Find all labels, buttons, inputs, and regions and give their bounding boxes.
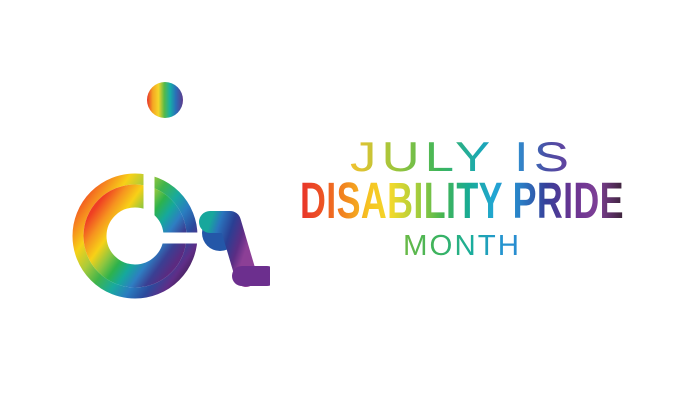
headline-line2: DISABILITY PRIDE <box>300 173 624 230</box>
wheelchair-icon <box>70 70 270 315</box>
head <box>147 82 183 118</box>
wheelchair-icon-svg <box>70 70 270 315</box>
headline-line3: MONTH <box>403 230 521 262</box>
headline-svg: JULY IS DISABILITY PRIDE MONTH <box>290 128 635 273</box>
poster-canvas: JULY IS DISABILITY PRIDE MONTH <box>0 0 700 400</box>
headline-block: JULY IS DISABILITY PRIDE MONTH <box>290 128 635 273</box>
